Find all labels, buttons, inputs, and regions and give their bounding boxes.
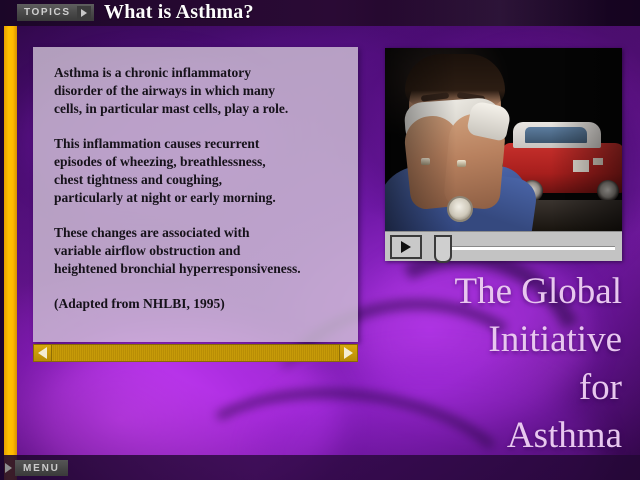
- scrubber[interactable]: [432, 235, 617, 259]
- chevron-right-icon: [2, 460, 15, 476]
- header-sheen: [0, 0, 640, 26]
- content-panel-body: Asthma is a chronic inflammatory disorde…: [33, 47, 358, 313]
- scroll-right-arrow-icon[interactable]: [340, 345, 357, 361]
- wristwatch: [447, 196, 473, 222]
- paragraph-2: This inflammation causes recurrent episo…: [54, 135, 344, 207]
- header-bar: [0, 0, 640, 26]
- video-frame: [385, 48, 622, 231]
- play-triangle-icon: [401, 241, 411, 253]
- video-controller[interactable]: [385, 231, 622, 261]
- playhead-thumb[interactable]: [434, 235, 452, 263]
- chevron-right-icon: [77, 6, 91, 20]
- topics-button[interactable]: TOPICS: [17, 4, 94, 21]
- paragraph-3: These changes are associated with variab…: [54, 224, 344, 278]
- menu-button-face[interactable]: MENU: [15, 460, 68, 476]
- video-player[interactable]: [385, 48, 622, 261]
- scrubber-track[interactable]: [450, 246, 615, 250]
- page-title: What is Asthma?: [104, 1, 254, 24]
- taxi-wheel: [597, 180, 619, 202]
- content-panel: Asthma is a chronic inflammatory disorde…: [33, 47, 358, 342]
- taxi-sign-secondary: [593, 158, 603, 165]
- scroll-left-arrow-icon[interactable]: [34, 345, 51, 361]
- scrollbar-track[interactable]: [51, 345, 340, 361]
- presentation-slide: TOPICS What is Asthma? Asthma is a chron…: [0, 0, 640, 480]
- finger-ring: [421, 158, 430, 165]
- taxi-sign: [573, 160, 589, 172]
- menu-button[interactable]: MENU: [2, 460, 68, 476]
- play-button[interactable]: [390, 235, 422, 259]
- person-hair: [405, 54, 505, 106]
- finger-ring: [457, 160, 466, 167]
- footer-bar: [0, 455, 640, 480]
- menu-button-label: MENU: [23, 463, 60, 474]
- left-gold-rail: [4, 0, 17, 480]
- paragraph-1: Asthma is a chronic inflammatory disorde…: [54, 64, 344, 118]
- topics-button-label: TOPICS: [24, 4, 71, 21]
- source-citation: (Adapted from NHLBI, 1995): [54, 295, 344, 313]
- taxi-window: [525, 127, 587, 143]
- horizontal-scrollbar[interactable]: [33, 344, 358, 362]
